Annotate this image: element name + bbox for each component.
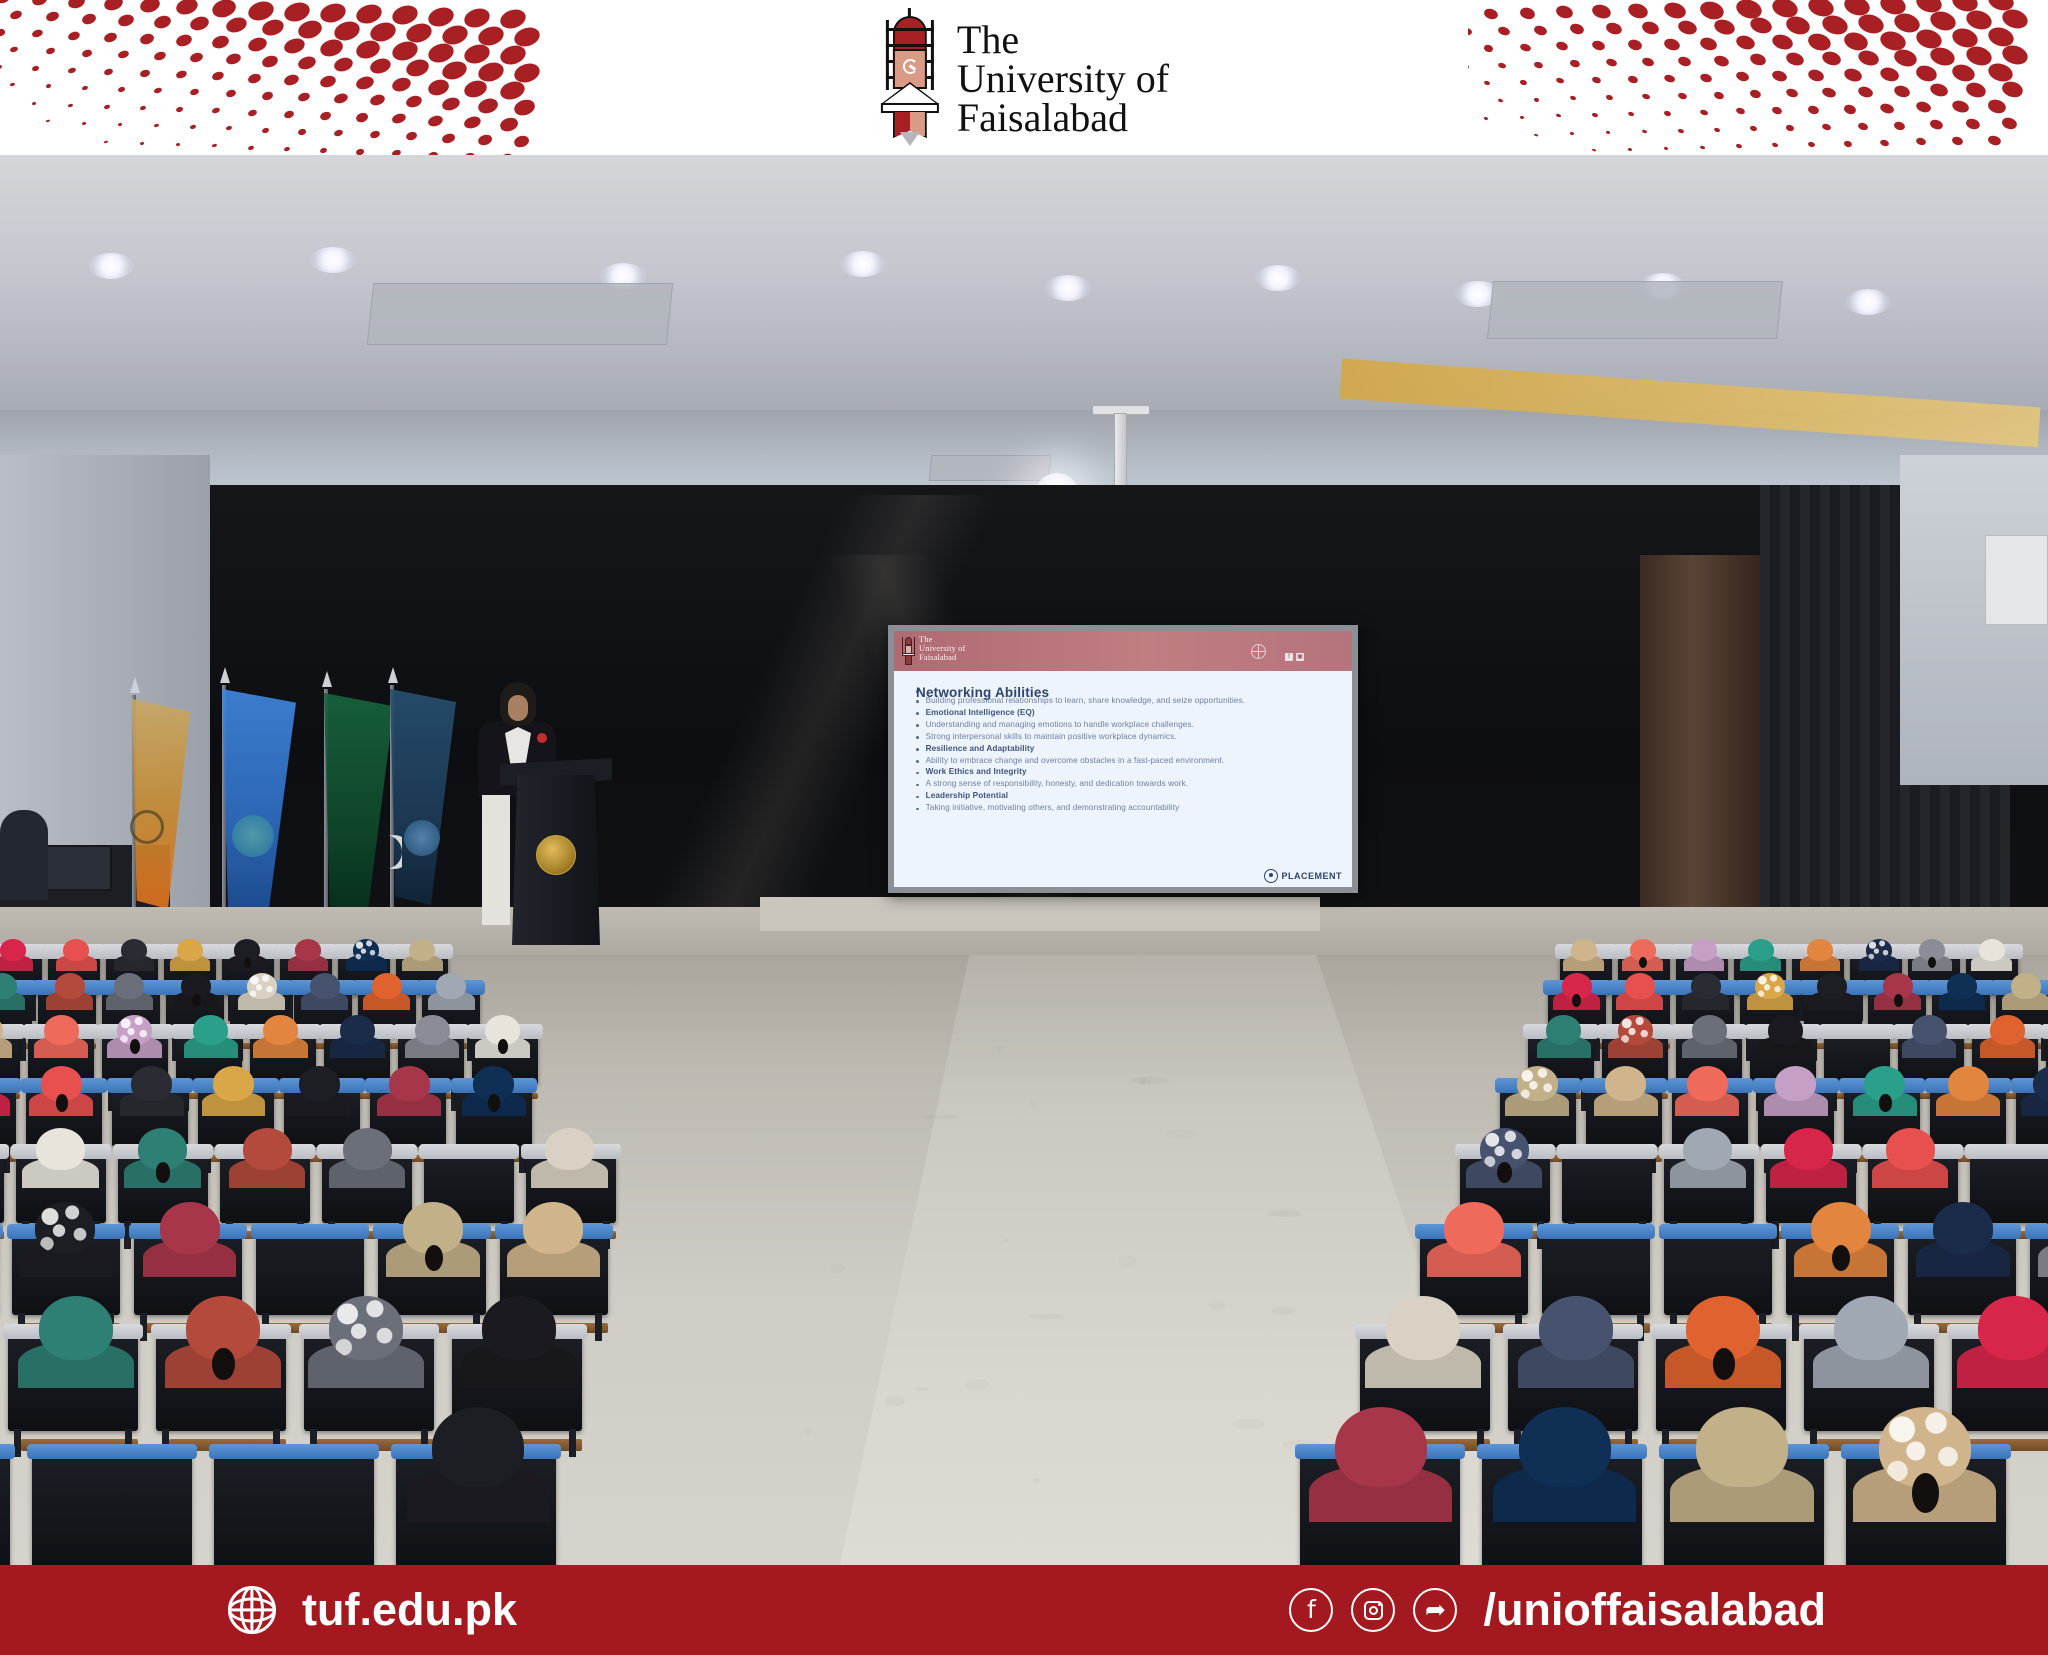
floor-scuff xyxy=(885,1396,904,1406)
pattern-dot xyxy=(247,72,263,85)
floor-scuff xyxy=(1232,1419,1265,1429)
audience-member-head xyxy=(114,973,144,999)
pattern-dot xyxy=(1483,7,1499,21)
hair-ponytail xyxy=(1879,1094,1891,1112)
pattern-dot xyxy=(1736,144,1743,149)
pattern-dot xyxy=(1677,92,1687,100)
pattern-dot xyxy=(1713,90,1724,99)
scarf-pattern xyxy=(329,1296,403,1360)
slide-bullet-text: Networking Abilities xyxy=(916,685,1049,700)
flag-emblem xyxy=(130,810,164,844)
pattern-dot xyxy=(1843,103,1857,115)
audience-member-head xyxy=(389,1066,430,1101)
pattern-dot xyxy=(1843,140,1852,148)
ac-ceiling-vent xyxy=(1487,281,1783,339)
twitter-icon[interactable]: ➦ xyxy=(1413,1588,1457,1632)
scarf-pattern xyxy=(1618,1015,1653,1045)
logo-wordmark: The University of Faisalabad xyxy=(957,6,1169,138)
bullet-icon xyxy=(916,796,919,799)
audience-member-head xyxy=(1886,1128,1935,1170)
hair-ponytail xyxy=(56,1094,68,1112)
recessed-ceiling-light xyxy=(1845,289,1891,315)
pattern-dot xyxy=(246,35,268,53)
audience-member-head xyxy=(1979,939,2005,961)
audience-member-head xyxy=(1948,1066,1989,1101)
pattern-dot xyxy=(0,64,3,70)
pattern-dot xyxy=(1878,65,1901,84)
pattern-dot xyxy=(103,68,113,76)
pattern-dot xyxy=(355,75,376,92)
seat-headrest xyxy=(1965,1144,2048,1159)
pattern-dot xyxy=(1626,1,1650,21)
pattern-dot xyxy=(476,96,499,115)
audience-member-head xyxy=(1539,1296,1613,1360)
flag-cloth xyxy=(132,699,190,909)
audience-member-head xyxy=(1978,1296,2048,1360)
pattern-dot xyxy=(1856,48,1880,68)
pattern-dot xyxy=(1627,38,1644,52)
pattern-dot xyxy=(1950,62,1977,84)
slide-content: Networking AbilitiesBuilding professiona… xyxy=(894,671,1352,887)
pattern-dot xyxy=(297,128,306,136)
university-seal xyxy=(536,835,576,875)
seat-headrest xyxy=(2041,1024,2048,1039)
hair-ponytail xyxy=(1639,957,1647,968)
social-handle[interactable]: /unioffaisalabad xyxy=(1483,1584,1826,1636)
pattern-dot xyxy=(355,148,364,155)
seat-headrest xyxy=(1557,1144,1657,1159)
audience-member-head xyxy=(436,973,466,999)
placement-label: PLACEMENT xyxy=(1282,871,1343,881)
pattern-dot xyxy=(153,87,162,95)
scarf-pattern xyxy=(1866,939,1892,961)
floor-scuff xyxy=(1130,1077,1169,1084)
audience-member-head xyxy=(1933,1202,1993,1254)
pattern-dot xyxy=(1771,69,1788,83)
pattern-dot xyxy=(154,123,160,128)
audience-member-head xyxy=(1866,939,1892,961)
pattern-dot xyxy=(1785,51,1805,68)
floor-scuff xyxy=(805,1429,811,1436)
seat-leg xyxy=(595,1313,602,1341)
pattern-dot xyxy=(31,29,43,39)
pattern-dot xyxy=(138,0,162,15)
audience-member-head xyxy=(1618,1015,1653,1045)
speaker-lower-body xyxy=(482,795,510,925)
pattern-dot xyxy=(1821,123,1832,132)
pattern-dot xyxy=(1606,131,1611,135)
flag-4 xyxy=(386,685,462,941)
pattern-dot xyxy=(1712,17,1736,37)
ac-ceiling-vent xyxy=(929,455,1052,481)
audience-member-head xyxy=(1605,1066,1646,1101)
pattern-dot xyxy=(1928,45,1957,69)
pattern-dot xyxy=(1699,72,1713,84)
brand-header: The University of Faisalabad xyxy=(0,0,2048,155)
pattern-dot xyxy=(333,92,349,105)
audience-member-head xyxy=(1807,939,1833,961)
pattern-dot xyxy=(104,140,108,143)
scarf-pattern xyxy=(1517,1066,1558,1101)
pattern-dot xyxy=(225,89,236,98)
floor-scuff xyxy=(1269,1210,1302,1216)
pattern-dot xyxy=(1605,94,1613,101)
pattern-dot xyxy=(118,122,123,126)
hair-ponytail xyxy=(425,1245,443,1271)
pattern-dot xyxy=(1698,0,1726,21)
pattern-dot xyxy=(332,55,354,74)
pattern-dot xyxy=(319,74,338,90)
slide-bullet-text: Emotional Intelligence (EQ) xyxy=(926,708,1035,717)
floor-scuff xyxy=(997,1045,1006,1054)
lighthouse-pencil-icon xyxy=(902,635,915,667)
pattern-dot xyxy=(1555,41,1569,52)
pattern-dot xyxy=(1951,136,1964,147)
social-block[interactable]: f ➦ /unioffaisalabad xyxy=(1289,1584,1826,1636)
audience-member-head xyxy=(1834,1296,1908,1360)
pattern-dot xyxy=(247,108,257,117)
auditorium-seat[interactable] xyxy=(0,1455,10,1565)
pattern-dot xyxy=(1533,24,1548,36)
pattern-dot xyxy=(1785,88,1799,100)
pattern-dot xyxy=(369,130,381,140)
pattern-dot xyxy=(1700,145,1706,150)
pattern-dot xyxy=(1857,85,1874,99)
audience-member-head xyxy=(0,939,26,961)
audience-member-head xyxy=(299,1066,340,1101)
seat-headrest xyxy=(0,1144,9,1159)
audience-member-head xyxy=(131,1066,172,1101)
pattern-dot xyxy=(333,129,344,138)
flag-emblem xyxy=(232,815,274,857)
speaker-lapel-pin xyxy=(537,733,547,743)
pattern-dot xyxy=(139,69,150,78)
pattern-dot xyxy=(1484,116,1489,120)
pattern-dot xyxy=(426,77,451,97)
bullet-icon xyxy=(916,808,919,811)
pattern-dot xyxy=(404,57,431,79)
audience-member-head xyxy=(1775,1066,1816,1101)
hair-ponytail xyxy=(192,994,201,1007)
recessed-ceiling-light xyxy=(1045,275,1091,301)
pattern-dot xyxy=(1627,75,1638,84)
bullet-icon xyxy=(916,736,919,739)
recessed-ceiling-light xyxy=(840,251,886,277)
pattern-dot xyxy=(9,46,18,53)
pattern-dot xyxy=(211,34,231,51)
website-url[interactable]: tuf.edu.pk xyxy=(302,1584,517,1636)
facebook-icon: f xyxy=(1285,653,1293,661)
pattern-dot xyxy=(117,13,135,28)
globe-icon xyxy=(1251,644,1266,659)
pattern-dot xyxy=(1556,114,1562,119)
pattern-dot xyxy=(1748,15,1774,37)
pattern-dot xyxy=(140,141,145,145)
audience-member-head xyxy=(35,1202,95,1254)
seat-headrest xyxy=(0,1444,15,1459)
pattern-dot xyxy=(68,103,74,108)
pattern-dot xyxy=(1663,37,1681,52)
audience-member-head xyxy=(1683,1128,1732,1170)
pattern-dot xyxy=(1879,102,1895,115)
audience-member-head xyxy=(243,1128,292,1170)
pattern-dot xyxy=(261,90,274,101)
hair-ponytail xyxy=(1832,1245,1850,1271)
pattern-dot xyxy=(176,143,181,147)
auditorium-seat[interactable] xyxy=(214,1455,374,1565)
pattern-dot xyxy=(1807,104,1820,115)
pattern-dot xyxy=(67,67,76,74)
pattern-dot xyxy=(224,16,248,36)
pattern-dot xyxy=(190,124,197,129)
pattern-dot xyxy=(1677,55,1692,68)
pattern-dot xyxy=(1879,138,1890,147)
pattern-dot xyxy=(1519,79,1527,86)
pattern-dot xyxy=(1735,71,1751,84)
pattern-dot xyxy=(1915,100,1933,115)
audience-member-head xyxy=(545,1128,594,1170)
pattern-dot xyxy=(1987,134,2002,146)
pattern-dot xyxy=(1770,32,1794,52)
pattern-dot xyxy=(139,105,146,111)
halftone-pattern-right xyxy=(1468,0,2048,155)
pattern-dot xyxy=(1987,97,2008,115)
pattern-dot xyxy=(82,121,87,125)
pattern-dot xyxy=(1555,77,1564,84)
halftone-pattern-left xyxy=(0,0,580,155)
scarf-pattern xyxy=(247,973,277,999)
pattern-dot xyxy=(1929,82,1950,99)
projection-screen: The University of Faisalabad f ▣ Network… xyxy=(888,625,1358,893)
audience-member-head xyxy=(409,939,435,961)
pattern-dot xyxy=(211,71,225,83)
pattern-dot xyxy=(1569,22,1586,36)
audience-member-head xyxy=(372,973,402,999)
website-block[interactable]: tuf.edu.pk xyxy=(228,1584,517,1636)
floor-scuff xyxy=(964,1379,990,1390)
auditorium-seat[interactable] xyxy=(0,1155,4,1223)
audience-member-head xyxy=(121,939,147,961)
audience-member-head xyxy=(193,1015,228,1045)
pattern-dot xyxy=(1519,42,1531,52)
pattern-dot xyxy=(297,91,311,103)
pattern-dot xyxy=(153,14,173,31)
instagram-icon: ▣ xyxy=(1296,653,1304,661)
slide-bullet-text: Leadership Potential xyxy=(926,791,1009,800)
pattern-dot xyxy=(45,11,60,23)
pattern-dot xyxy=(1664,146,1669,150)
pattern-dot xyxy=(103,31,118,44)
pattern-dot xyxy=(81,48,92,57)
slide-bullet-row: Understanding and managing emotions to h… xyxy=(916,719,1338,729)
slide-bullet-text: Understanding and managing emotions to h… xyxy=(926,720,1194,729)
pattern-dot xyxy=(1843,66,1864,83)
pattern-dot xyxy=(1483,44,1494,53)
technician-silhouette xyxy=(0,810,48,900)
scarf-pattern xyxy=(353,939,379,961)
auditorium-seat[interactable] xyxy=(1562,1155,1652,1223)
audience-member-head xyxy=(177,939,203,961)
pattern-dot xyxy=(212,144,218,149)
audience-member-head xyxy=(1691,939,1717,961)
audience-member-head xyxy=(1817,973,1847,999)
hair-ponytail xyxy=(1894,994,1903,1007)
seat-headrest xyxy=(209,1444,379,1459)
pattern-dot xyxy=(1749,125,1757,132)
bullet-icon xyxy=(916,760,919,763)
wood-wall-panel xyxy=(1640,555,1770,935)
pattern-dot xyxy=(1807,68,1826,84)
logo-line-1: The xyxy=(957,20,1169,59)
pattern-dot xyxy=(1534,133,1538,136)
pattern-dot xyxy=(1771,142,1778,148)
audience-member-head xyxy=(482,1296,556,1360)
pattern-dot xyxy=(1591,39,1606,52)
audience-member-head xyxy=(1687,1066,1728,1101)
audience-member-head xyxy=(340,1015,375,1045)
bullet-icon xyxy=(916,712,919,715)
pattern-dot xyxy=(153,50,167,61)
pattern-dot xyxy=(1497,62,1506,69)
slide-brand-line-3: Faisalabad xyxy=(919,653,965,662)
hair-ponytail xyxy=(1912,1473,1940,1513)
auditorium-seat[interactable] xyxy=(32,1455,192,1565)
pattern-dot xyxy=(391,149,402,155)
pattern-dot xyxy=(1533,60,1543,68)
audience-member-head xyxy=(1625,973,1655,999)
pattern-dot xyxy=(1857,121,1869,131)
pattern-dot xyxy=(81,85,88,91)
audience-member-head xyxy=(1912,1015,1947,1045)
pattern-dot xyxy=(1951,99,1970,115)
seat-headrest xyxy=(0,1224,3,1239)
pattern-dot xyxy=(1627,111,1634,117)
pattern-dot xyxy=(1734,34,1756,52)
slide-bullet-row: Strong interpersonal skills to maintain … xyxy=(916,731,1338,741)
hair-ponytail xyxy=(1713,1348,1735,1380)
bullet-icon xyxy=(916,748,919,751)
scarf-pattern xyxy=(1755,973,1785,999)
pattern-dot xyxy=(104,104,110,109)
instagram-icon[interactable] xyxy=(1351,1588,1395,1632)
pattern-dot xyxy=(175,106,183,113)
seat-headrest xyxy=(251,1224,369,1239)
seat-headrest xyxy=(2025,1224,2048,1239)
placement-mark-icon xyxy=(1264,869,1278,883)
pattern-dot xyxy=(1713,127,1720,133)
floor-scuff xyxy=(1140,1077,1146,1085)
seat-headrest xyxy=(1659,1224,1777,1239)
audience-member-head xyxy=(39,1296,113,1360)
slide-bullet-text: Ability to embrace change and overcome o… xyxy=(926,756,1225,765)
pattern-dot xyxy=(405,94,424,110)
slide-bullet-text: Taking initiative, motivating others, an… xyxy=(926,803,1180,812)
seat-leg xyxy=(1792,1313,1799,1341)
slide-bullet-row: Taking initiative, motivating others, an… xyxy=(916,803,1338,813)
audience-member-head xyxy=(44,1015,79,1045)
pattern-dot xyxy=(1663,73,1676,83)
pattern-dot xyxy=(225,126,232,132)
pattern-dot xyxy=(1784,14,1812,37)
facebook-icon[interactable]: f xyxy=(1289,1588,1333,1632)
audience-member-head xyxy=(1755,973,1785,999)
pattern-dot xyxy=(1663,110,1671,117)
pattern-dot xyxy=(1676,18,1698,36)
pattern-dot xyxy=(1591,76,1601,84)
audience-member-head xyxy=(310,973,340,999)
pattern-dot xyxy=(1468,63,1469,69)
audience-member-head xyxy=(247,973,277,999)
pattern-dot xyxy=(67,30,81,41)
event-photograph: The University of Faisalabad f ▣ Network… xyxy=(0,155,2048,1565)
floor-scuff xyxy=(1272,1307,1295,1315)
pattern-dot xyxy=(188,15,210,33)
pattern-dot xyxy=(1749,89,1762,100)
ac-ceiling-vent xyxy=(367,283,674,345)
audience-member-head xyxy=(1571,939,1597,961)
pattern-dot xyxy=(67,0,87,10)
brand-footer: tuf.edu.pk f ➦ /unioffaisalabad xyxy=(0,1565,2048,1655)
pattern-dot xyxy=(175,33,193,48)
audience-member-head xyxy=(213,1066,254,1101)
stage-platform xyxy=(760,897,1320,931)
slide-bullet-row: Networking Abilities xyxy=(916,685,1338,693)
floor-scuff xyxy=(1166,1129,1196,1139)
pattern-dot xyxy=(1965,117,1981,130)
pattern-dot xyxy=(1555,4,1575,20)
audience-member-head xyxy=(329,1296,403,1360)
hair-ponytail xyxy=(212,1348,234,1380)
seat-headrest xyxy=(0,1024,25,1039)
pattern-dot xyxy=(1484,80,1491,86)
pattern-dot xyxy=(499,152,514,155)
pattern-dot xyxy=(1893,120,1906,131)
pattern-dot xyxy=(1590,3,1612,21)
pattern-dot xyxy=(260,17,286,39)
audience-member-head xyxy=(1784,1128,1833,1170)
pattern-dot xyxy=(174,0,200,17)
pattern-dot xyxy=(1820,49,1842,68)
pattern-dot xyxy=(248,145,255,150)
floor-scuff xyxy=(1033,1478,1040,1482)
pattern-dot xyxy=(1641,56,1655,67)
pattern-dot xyxy=(0,28,6,37)
pattern-dot xyxy=(319,110,332,121)
slide-bullet-row: Work Ethics and Integrity xyxy=(916,767,1338,777)
pattern-dot xyxy=(139,32,156,46)
wall-fixture xyxy=(1985,535,2048,625)
audience-member-head xyxy=(160,1202,220,1254)
pattern-dot xyxy=(391,113,407,126)
slide-bullet-text: Strong interpersonal skills to maintain … xyxy=(926,732,1177,741)
logo-line-3: Faisalabad xyxy=(957,98,1169,137)
scarf-pattern xyxy=(35,1202,95,1254)
pattern-dot xyxy=(1662,0,1688,21)
audience-member-head xyxy=(1444,1202,1504,1254)
pattern-dot xyxy=(368,56,392,76)
slide-social-icons: f ▣ xyxy=(1285,653,1304,661)
pattern-dot xyxy=(1641,20,1661,37)
pattern-dot xyxy=(427,114,445,129)
pattern-dot xyxy=(261,53,280,68)
seat-leg xyxy=(14,1429,21,1457)
pattern-dot xyxy=(512,97,537,118)
pattern-dot xyxy=(1592,149,1596,152)
seat-leg xyxy=(569,1429,576,1457)
audience-member-head xyxy=(1519,1407,1611,1487)
flag-cloth xyxy=(324,693,394,915)
pattern-dot xyxy=(102,0,124,12)
